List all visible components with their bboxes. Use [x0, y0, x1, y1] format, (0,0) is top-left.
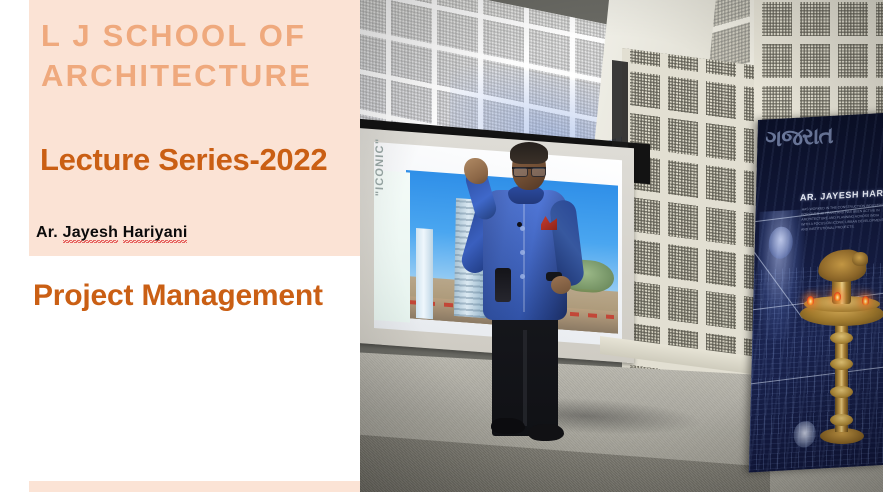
speaker-title-prefix: Ar.: [36, 224, 63, 241]
oil-lamp-stem-knob: [830, 332, 853, 344]
speaker-glasses-lens-right: [531, 167, 546, 177]
lamp-flame: [807, 296, 814, 305]
speaker-handheld-device: [495, 268, 511, 302]
oil-lamp-stem-knob: [830, 358, 853, 370]
oil-lamp-stem-knob: [830, 414, 853, 426]
oil-lamp-peacock-head: [852, 252, 868, 266]
speaker-jacket-placket: [523, 200, 525, 312]
speaker-last-name: Hariyani: [123, 224, 188, 243]
speaker-trouser-crease: [523, 330, 527, 426]
banner-speaker-name: AR. JAYESH HARIYANI: [800, 187, 883, 203]
projected-slide-tower-left: [416, 228, 433, 319]
school-name-heading: L J SCHOOL OF ARCHITECTURE: [41, 16, 341, 96]
speaker-jacket-button: [520, 274, 525, 279]
speaker-hair: [510, 142, 548, 164]
projected-slide-caption-text: "ICONIC": [374, 137, 386, 196]
peach-footer-strip: [29, 481, 360, 492]
speaker-jacket-button: [520, 250, 525, 255]
speaker-first-name: Jayesh: [63, 224, 118, 243]
left-text-panel: L J SCHOOL OF ARCHITECTURE Lecture Serie…: [0, 0, 360, 492]
lecture-topic-heading: Project Management: [33, 276, 333, 316]
speaker-lapel-microphone: [517, 222, 522, 227]
lamp-flame: [862, 296, 869, 305]
speaker-name-line: Ar. Jayesh Hariyani: [36, 224, 187, 242]
speaker-hand-right: [551, 276, 571, 294]
speaker-shoe-left: [491, 418, 525, 434]
oil-lamp-stem-knob: [830, 386, 853, 398]
lamp-flame: [834, 292, 841, 301]
speaker-shoe-right: [528, 424, 564, 441]
speaker-raised-hand: [464, 158, 488, 184]
banner-script-title: ગજરાત: [765, 118, 883, 171]
lecture-announcement-slide: L J SCHOOL OF ARCHITECTURE Lecture Serie…: [0, 0, 883, 492]
lecture-hall-photograph: "ICONIC" ગજરાત: [360, 0, 883, 492]
speaker-glasses-lens-left: [513, 167, 528, 177]
speaker-jacket-button: [520, 226, 525, 231]
lecture-series-heading: Lecture Series-2022: [40, 140, 350, 180]
